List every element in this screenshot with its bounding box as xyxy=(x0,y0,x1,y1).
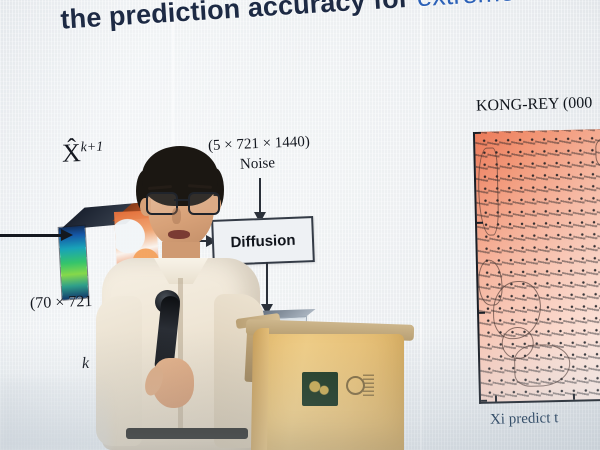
foreground-blur xyxy=(0,380,110,450)
glasses xyxy=(144,192,220,212)
y-tick xyxy=(477,222,483,224)
y-tick-label: 15°N xyxy=(473,304,474,321)
mouth xyxy=(168,230,190,239)
y-tick xyxy=(479,312,485,314)
x-hat-symbol: X̂ xyxy=(61,138,81,168)
glasses-lens xyxy=(188,192,220,215)
glasses-bridge xyxy=(174,199,190,201)
chart-title: KONG-REY (000 xyxy=(476,94,593,115)
input-arrow-icon xyxy=(0,234,64,237)
nose xyxy=(172,208,181,224)
y-tick xyxy=(475,132,481,134)
diffusion-output-arrow-icon xyxy=(266,262,268,306)
input-dims-label: (70 × 721 xyxy=(30,293,93,313)
presentation-photo: the prediction accuracy for extreme weat… xyxy=(0,0,600,450)
